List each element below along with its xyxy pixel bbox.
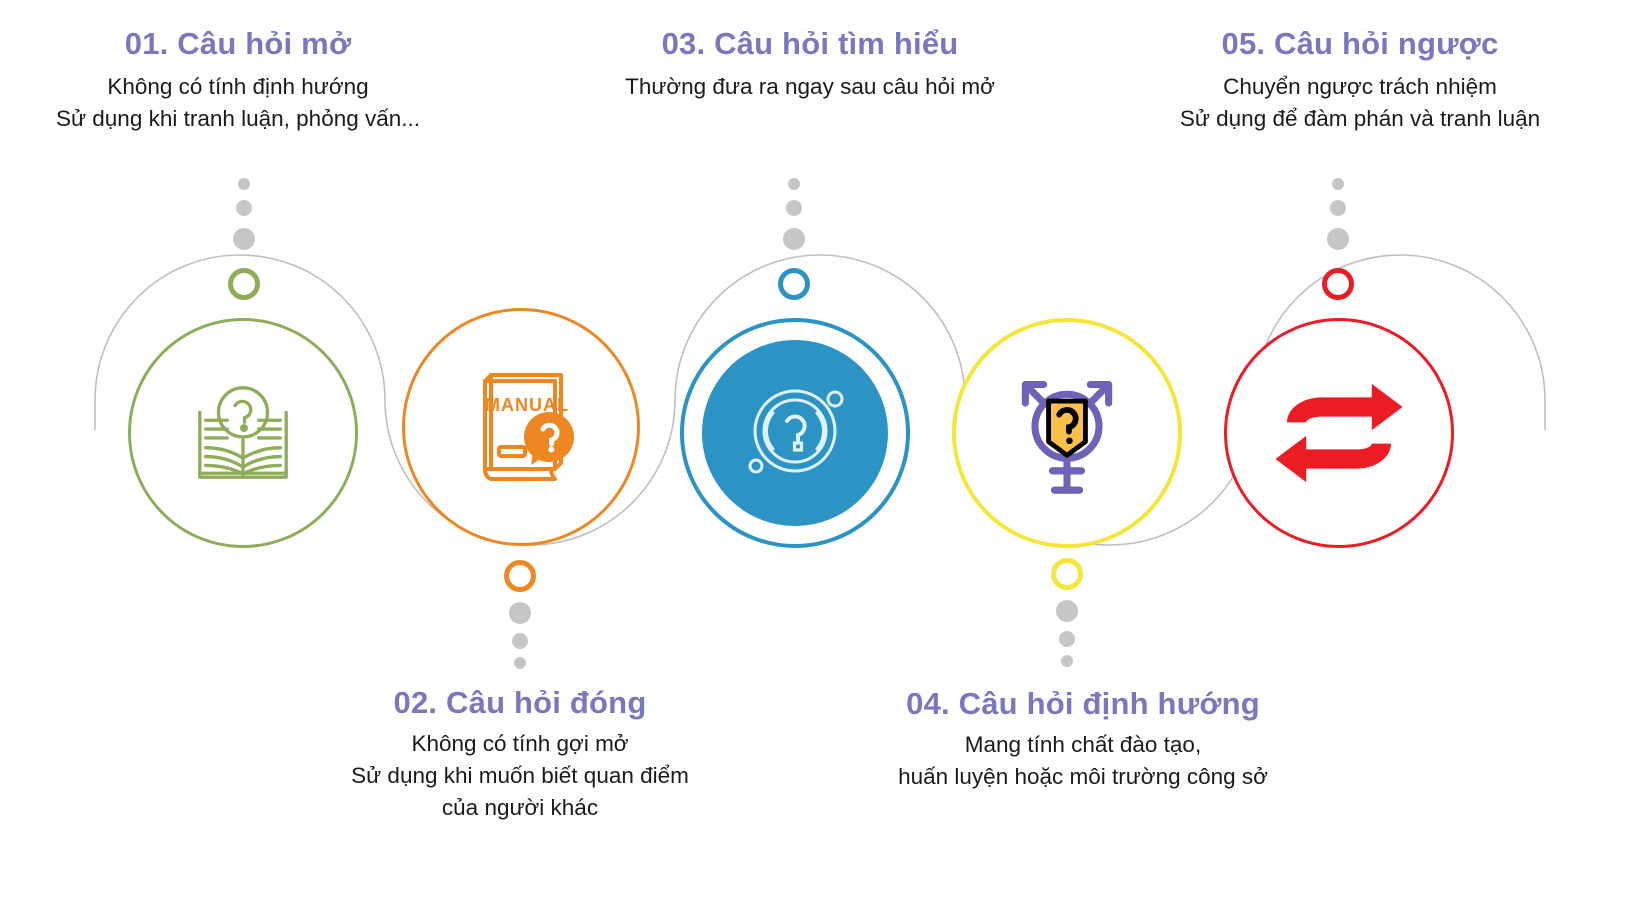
- step-line-02-1: Sử dụng khi muốn biết quan điểm: [315, 760, 725, 792]
- stem-dot-02-a: [509, 602, 531, 624]
- stem-dot-02-b: [512, 633, 528, 649]
- stem-dot-01-a: [233, 228, 255, 250]
- node-circle-03[interactable]: [680, 318, 910, 548]
- text-block-04: 04. Câu hỏi định hướng Mang tính chất đà…: [843, 686, 1323, 793]
- step-line-02-0: Không có tính gợi mở: [315, 728, 725, 760]
- text-block-01: 01. Câu hỏi mở Không có tính định hướng …: [42, 26, 434, 135]
- node-circle-05[interactable]: [1224, 318, 1454, 548]
- step-title-04: 04. Câu hỏi định hướng: [843, 686, 1323, 722]
- stem-dot-03-c: [788, 178, 800, 190]
- stem-ring-02: [504, 560, 536, 592]
- stem-ring-01: [228, 268, 260, 300]
- infographic-canvas: 01. Câu hỏi mở Không có tính định hướng …: [0, 0, 1640, 924]
- stem-dot-05-b: [1330, 200, 1346, 216]
- step-line-01-1: Sử dụng khi tranh luận, phỏng vấn...: [42, 103, 434, 135]
- node-circle-02[interactable]: MANUAL: [402, 308, 640, 546]
- step-title-03: 03. Câu hỏi tìm hiểu: [575, 26, 1045, 62]
- stem-dot-01-b: [236, 200, 252, 216]
- step-title-05: 05. Câu hỏi ngược: [1110, 26, 1610, 62]
- stem-dot-04-b: [1059, 631, 1075, 647]
- gender-question-tag-icon: [983, 349, 1152, 518]
- stem-dot-04-c: [1061, 655, 1073, 667]
- stem-dot-04-a: [1056, 600, 1078, 622]
- node-circle-04[interactable]: [952, 318, 1182, 548]
- step-line-01-0: Không có tính định hướng: [42, 71, 434, 103]
- stem-dot-01-c: [238, 178, 250, 190]
- text-block-03: 03. Câu hỏi tìm hiểu Thường đưa ra ngay …: [575, 26, 1045, 103]
- step-line-02-2: của người khác: [315, 792, 725, 824]
- stem-dot-05-c: [1332, 178, 1344, 190]
- stem-ring-05: [1322, 268, 1354, 300]
- step-title-01: 01. Câu hỏi mở: [42, 26, 434, 62]
- step-line-04-1: huấn luyện hoặc môi trường công sở: [843, 761, 1323, 793]
- stem-dot-03-a: [783, 228, 805, 250]
- stem-ring-04: [1051, 558, 1083, 590]
- stem-ring-03: [778, 268, 810, 300]
- step-line-03-0: Thường đưa ra ngay sau câu hỏi mở: [575, 71, 1045, 103]
- text-block-05: 05. Câu hỏi ngược Chuyển ngược trách nhi…: [1110, 26, 1610, 135]
- text-block-02: 02. Câu hỏi đóng Không có tính gợi mở Sử…: [315, 685, 725, 823]
- radar-question-icon: [735, 373, 855, 493]
- manual-book-question-icon: MANUAL: [433, 339, 609, 515]
- open-book-question-icon: [158, 348, 328, 518]
- stem-dot-03-b: [786, 200, 802, 216]
- step-line-04-0: Mang tính chất đào tạo,: [843, 729, 1323, 761]
- step-line-05-1: Sử dụng để đàm phán và tranh luận: [1110, 103, 1610, 135]
- step-line-05-0: Chuyển ngược trách nhiệm: [1110, 71, 1610, 103]
- swap-arrows-icon: [1254, 348, 1424, 518]
- step-title-02: 02. Câu hỏi đóng: [315, 685, 725, 721]
- manual-icon-text: MANUAL: [485, 395, 569, 415]
- stem-dot-02-c: [514, 657, 526, 669]
- node-circle-01[interactable]: [128, 318, 358, 548]
- node-fill-03: [702, 340, 888, 526]
- stem-dot-05-a: [1327, 228, 1349, 250]
